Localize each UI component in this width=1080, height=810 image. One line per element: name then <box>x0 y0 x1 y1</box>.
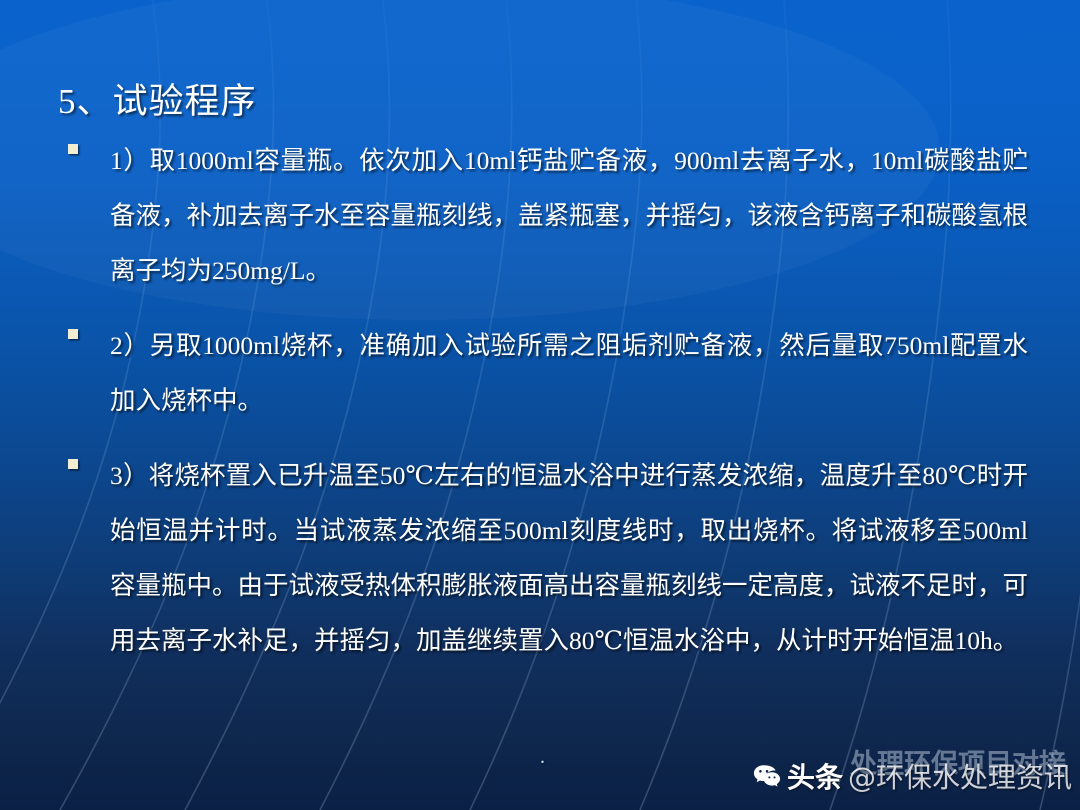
square-bullet-icon <box>68 459 78 469</box>
page-title: 5、试验程序 <box>58 73 257 124</box>
list-item-text: 3）将烧杯置入已升温至50℃左右的恒温水浴中进行蒸发浓缩，温度升至80℃时开始恒… <box>110 448 1028 668</box>
list-item: 3）将烧杯置入已升温至50℃左右的恒温水浴中进行蒸发浓缩，温度升至80℃时开始恒… <box>68 448 1028 668</box>
list-item-text: 2）另取1000ml烧杯，准确加入试验所需之阻垢剂贮备液，然后量取750ml配置… <box>110 318 1028 428</box>
list-item: 2）另取1000ml烧杯，准确加入试验所需之阻垢剂贮备液，然后量取750ml配置… <box>68 318 1028 428</box>
square-bullet-icon <box>68 144 78 154</box>
bullet-list: 1）取1000ml容量瓶。依次加入10ml钙盐贮备液，900ml去离子水，10m… <box>68 133 1028 688</box>
list-item: 1）取1000ml容量瓶。依次加入10ml钙盐贮备液，900ml去离子水，10m… <box>68 133 1028 298</box>
presentation-slide: 5、试验程序 1）取1000ml容量瓶。依次加入10ml钙盐贮备液，900ml去… <box>0 0 1080 810</box>
page-dot: . <box>540 752 545 762</box>
wechat-icon <box>752 761 782 791</box>
watermark-label: 头条 <box>787 756 843 796</box>
watermark-handle: @环保水处理资讯 <box>848 756 1072 796</box>
watermark-brand: 头条 @环保水处理资讯 <box>752 756 1072 796</box>
square-bullet-icon <box>68 329 78 339</box>
list-item-text: 1）取1000ml容量瓶。依次加入10ml钙盐贮备液，900ml去离子水，10m… <box>110 133 1028 298</box>
